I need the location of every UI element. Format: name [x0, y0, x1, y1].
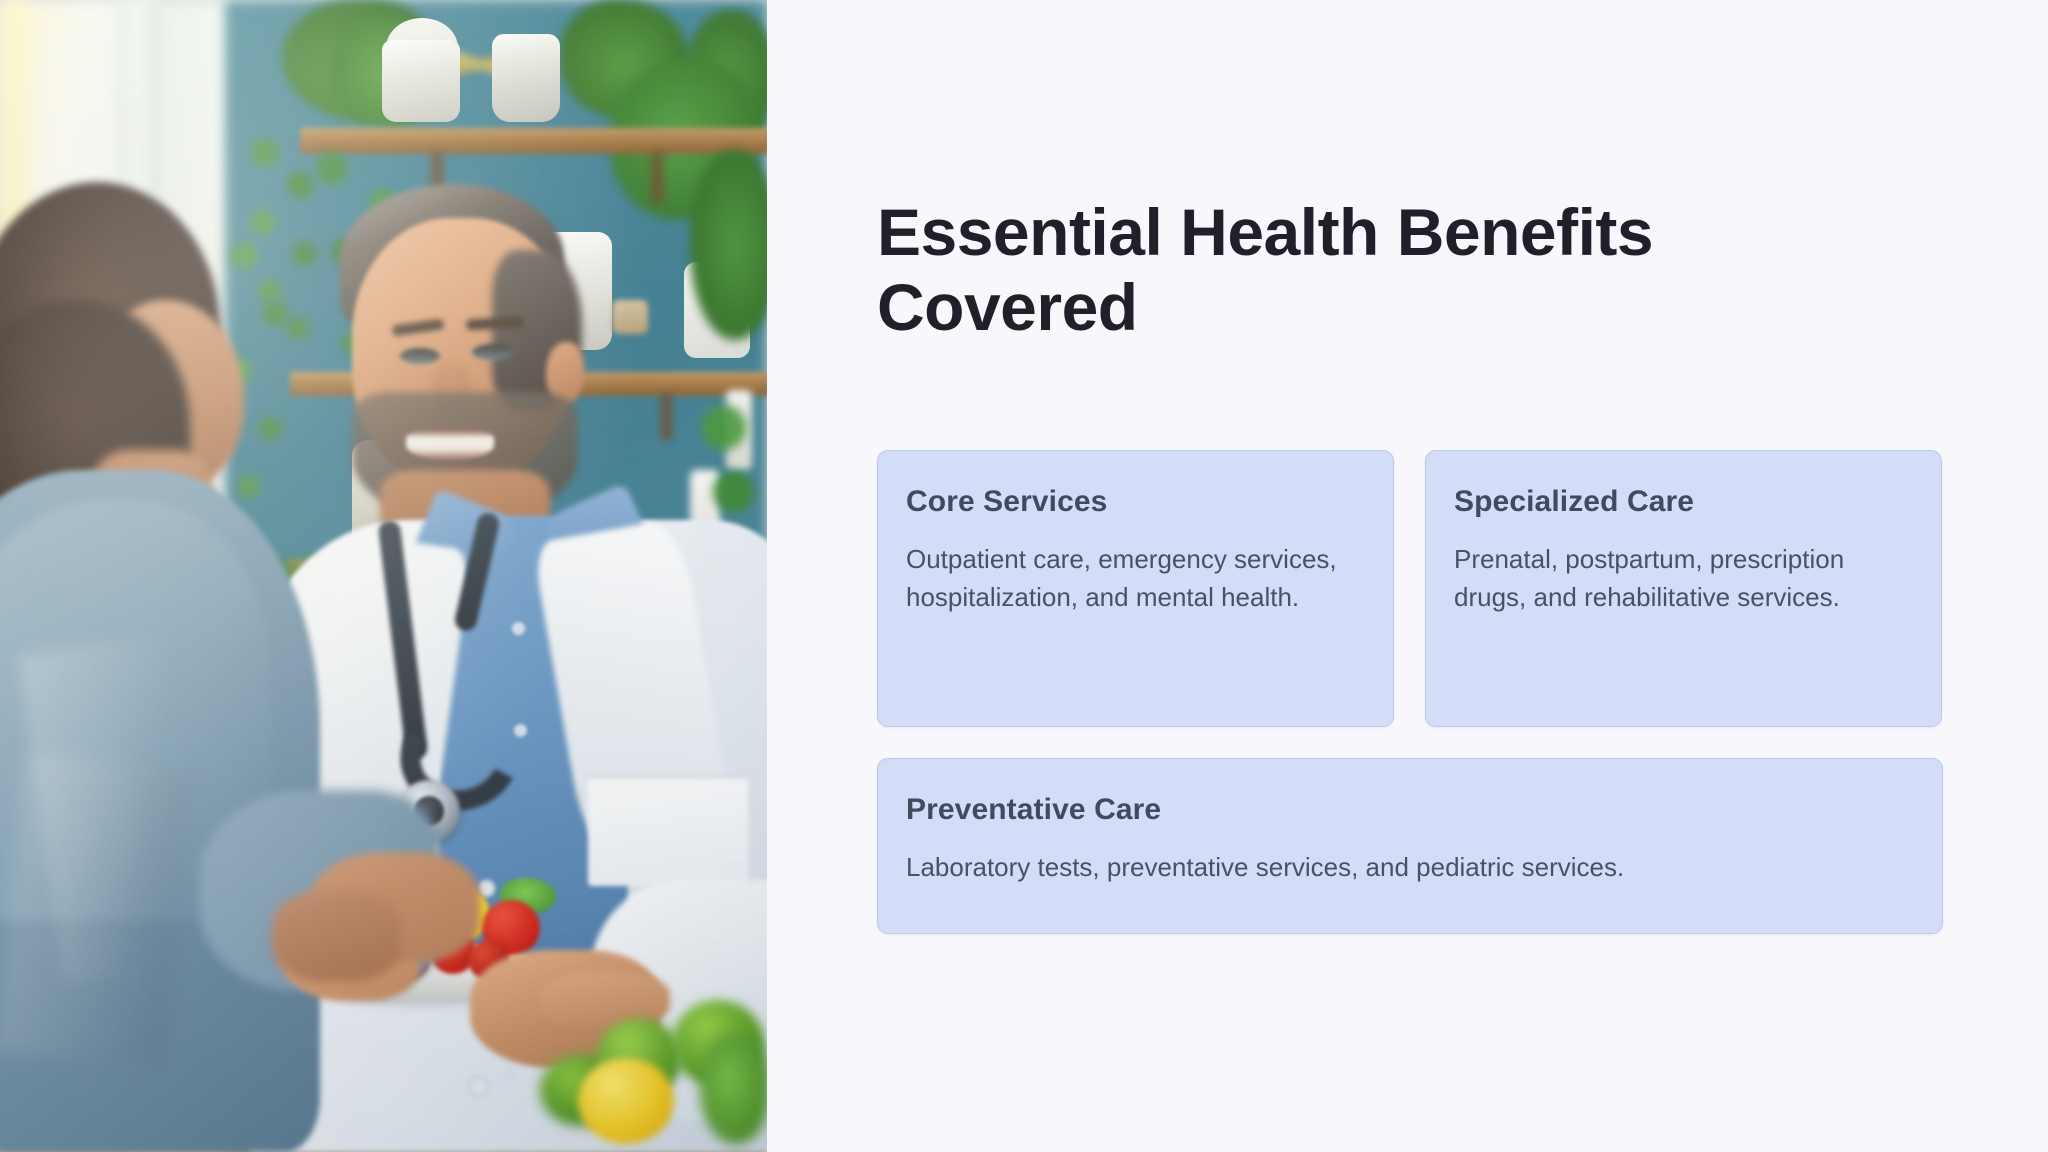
benefit-card-title: Core Services — [906, 485, 1365, 519]
lemon-fruit — [578, 1058, 674, 1144]
benefit-card-body: Prenatal, postpartum, prescription drugs… — [1454, 540, 1913, 617]
page-title: Essential Health Benefits Covered — [877, 195, 1837, 345]
coat-pocket — [588, 776, 748, 886]
plant-leaf-icon — [690, 150, 767, 340]
doctor-eye — [472, 344, 514, 360]
benefit-card-title: Preventative Care — [906, 793, 1914, 827]
shelf-bracket — [650, 152, 664, 204]
benefit-card-specialized-care[interactable]: Specialized Care Prenatal, postpartum, p… — [1425, 450, 1942, 727]
benefits-card-row: Core Services Outpatient care, emergency… — [877, 450, 1943, 727]
ceramic-vase — [382, 40, 460, 122]
leafy-greens — [700, 1034, 767, 1144]
benefit-card-body: Laboratory tests, preventative services,… — [906, 848, 1914, 886]
hero-photo — [0, 0, 767, 1152]
benefit-card-body: Outpatient care, emergency services, hos… — [906, 540, 1365, 617]
benefit-card-preventative-care[interactable]: Preventative Care Laboratory tests, prev… — [877, 758, 1943, 934]
coat-button — [470, 1078, 487, 1095]
shelf-bracket — [660, 394, 673, 440]
doctor-smile — [406, 430, 494, 460]
benefit-card-title: Specialized Care — [1454, 485, 1913, 519]
ceramic-vase — [492, 34, 560, 122]
shirt-button — [512, 622, 525, 635]
content-panel: Essential Health Benefits Covered Core S… — [767, 0, 2048, 1152]
small-pot — [612, 300, 648, 334]
benefit-card-core-services[interactable]: Core Services Outpatient care, emergency… — [877, 450, 1394, 727]
fabric-fold — [0, 752, 195, 1068]
doctor-eye — [400, 348, 440, 364]
shirt-button — [504, 1068, 517, 1081]
slide-root: Essential Health Benefits Covered Core S… — [0, 0, 2048, 1152]
patient-hand — [272, 890, 402, 982]
benefits-card-grid: Core Services Outpatient care, emergency… — [877, 450, 1943, 934]
